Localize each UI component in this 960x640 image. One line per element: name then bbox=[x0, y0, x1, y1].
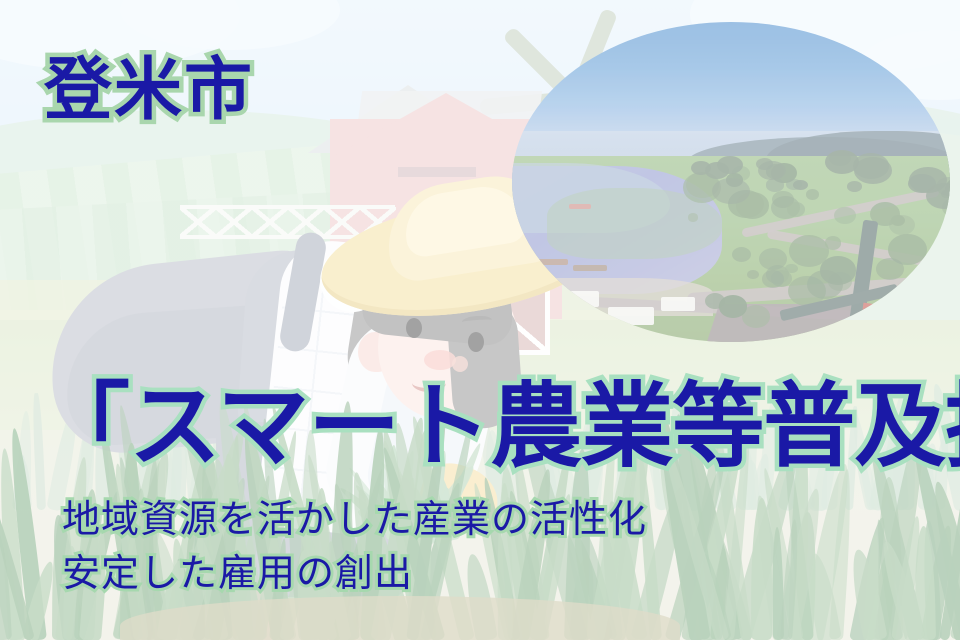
subtitle-line-1: 地域資源を活かした産業の活性化 bbox=[62, 488, 647, 543]
photo-tree bbox=[793, 180, 808, 190]
photo-tree bbox=[789, 235, 829, 267]
photo-tree bbox=[688, 213, 699, 222]
photo-tree bbox=[807, 270, 843, 299]
photo-tree bbox=[889, 215, 915, 236]
photo-tree bbox=[766, 178, 785, 191]
photo-building bbox=[547, 291, 599, 307]
photo-tree bbox=[705, 293, 725, 309]
promotional-banner: 登米市 「スマート農業等普及推進」 地域資源を活かした産業の活性化 安定した雇用… bbox=[0, 0, 960, 640]
farmer-eye bbox=[406, 318, 422, 338]
page-title: 「スマート農業等普及推進」 bbox=[38, 352, 960, 485]
photo-boat bbox=[538, 259, 568, 265]
photo-red-marker bbox=[861, 302, 886, 325]
photo-tree bbox=[787, 202, 805, 217]
subtitle-line-2: 安定した雇用の創出 bbox=[62, 542, 413, 597]
photo-tree bbox=[691, 161, 711, 175]
photo-tree bbox=[876, 258, 904, 280]
farmer-eye bbox=[468, 332, 484, 352]
photo-tree bbox=[884, 294, 915, 319]
aerial-photo-circle bbox=[512, 22, 950, 342]
photo-tree bbox=[834, 207, 856, 225]
photo-tree bbox=[925, 252, 941, 264]
photo-building bbox=[608, 307, 654, 325]
farmer-eyebrow bbox=[462, 315, 493, 327]
photo-boat bbox=[573, 265, 607, 271]
photo-tree bbox=[756, 158, 773, 170]
photo-tree bbox=[829, 151, 850, 166]
city-name-title: 登米市 bbox=[44, 34, 254, 133]
photo-tree bbox=[825, 236, 842, 249]
photo-boat bbox=[569, 204, 591, 209]
photo-building bbox=[661, 297, 695, 311]
